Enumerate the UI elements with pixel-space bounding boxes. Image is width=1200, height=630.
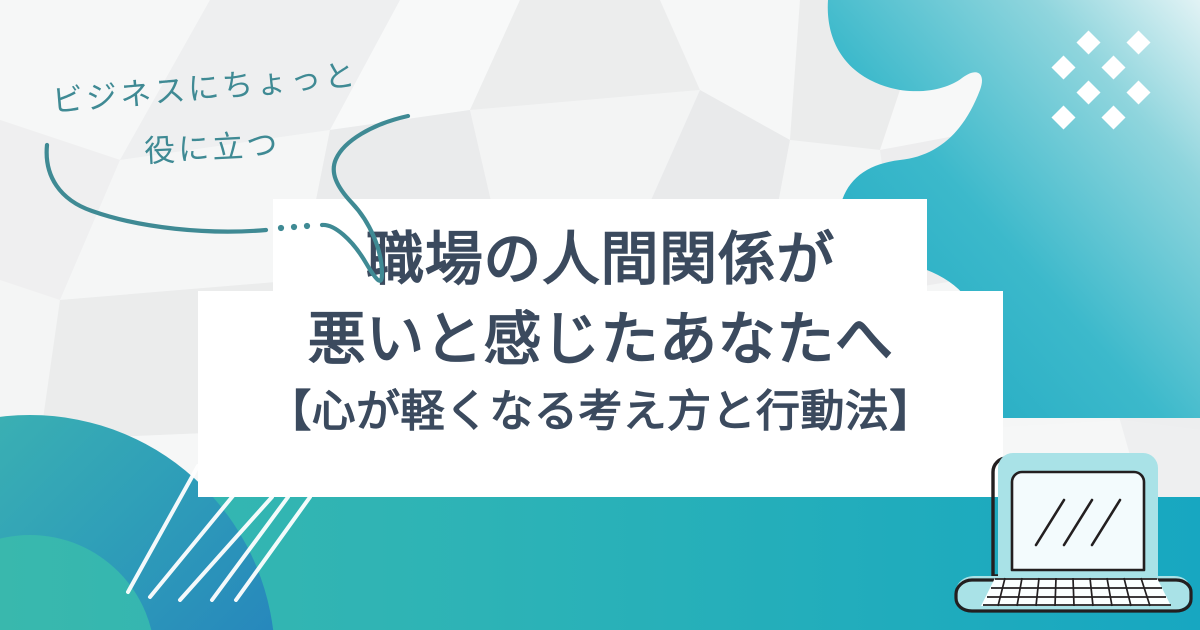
banner-canvas: 職場の人間関係が 悪いと感じたあなたへ 【心が軽くなる考え方と行動法】 ビジネス… [0, 0, 1200, 630]
laptop-illustration [0, 0, 1200, 630]
